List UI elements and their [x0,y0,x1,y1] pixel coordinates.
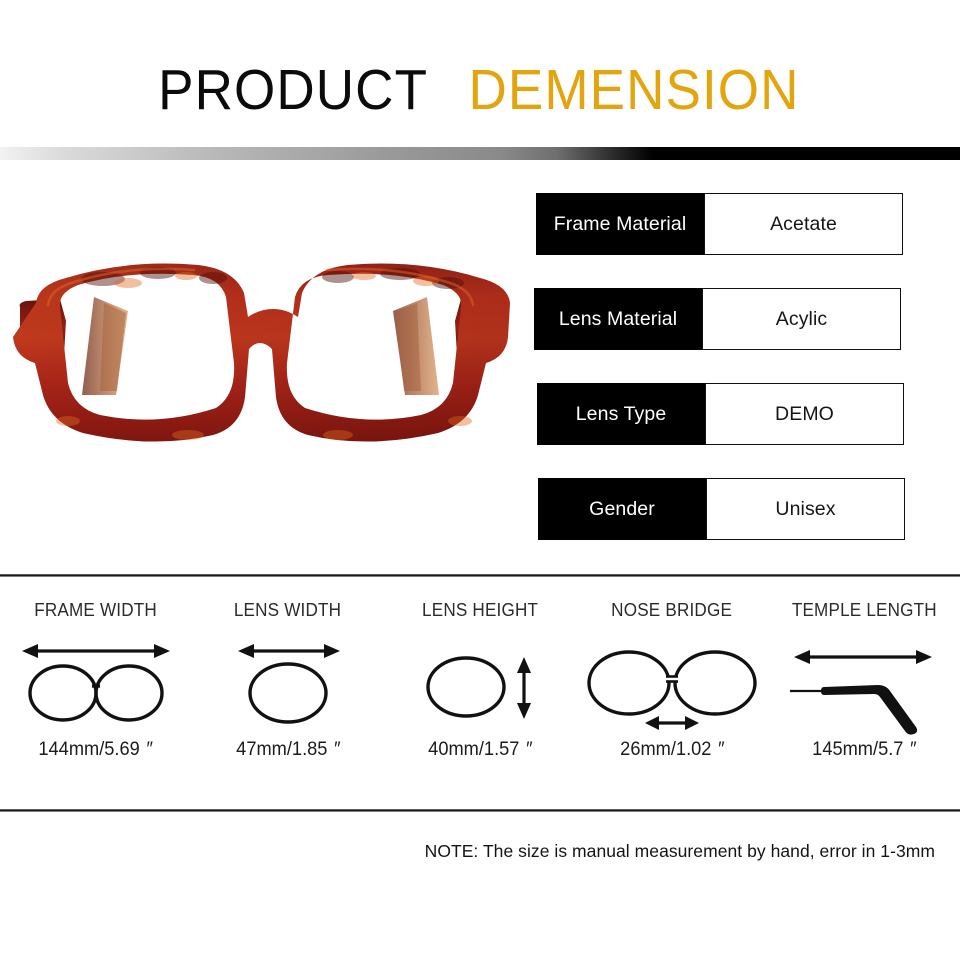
dimension-label-lens-height: LENS HEIGHT [422,600,538,624]
dimension-nose-bridge: NOSE BRIDGE 26mm/1.02″ [576,600,768,790]
section-divider-bottom [0,809,960,812]
dimension-value-frame-width: 144mm/5.69″ [39,739,154,761]
section-divider-top [0,574,960,577]
spec-value-gender: Unisex [706,478,905,540]
dimension-value-temple-length: 145mm/5.7″ [812,739,916,761]
title-word-demension: DEMENSION [468,62,799,119]
page-title: PRODUCT DEMENSION [0,62,960,119]
dimension-frame-width: FRAME WIDTH 144mm/5.69″ [0,600,192,790]
dimension-label-nose-bridge: NOSE BRIDGE [612,600,733,624]
spec-key-lens-material: Lens Material [534,288,702,350]
spec-key-frame-material: Frame Material [536,193,704,255]
dimension-lens-width: LENS WIDTH 47mm/1.85″ [192,600,384,790]
dimension-label-lens-width: LENS WIDTH [234,600,341,624]
spec-value-lens-material: Acylic [702,288,901,350]
dimension-label-temple-length: TEMPLE LENGTH [791,600,936,624]
lens-height-icon [395,632,565,737]
lens-width-icon [203,632,373,737]
dimension-value-lens-width: 47mm/1.85″ [236,739,340,761]
spec-row-lens-type: Lens Type DEMO [537,383,905,445]
temple-length-icon [779,632,949,737]
measurement-note: NOTE: The size is manual measurement by … [425,841,935,862]
dimension-temple-length: TEMPLE LENGTH 145mm/5.7″ [768,600,960,790]
dimension-lens-height: LENS HEIGHT 40mm/1.57″ [384,600,576,790]
dimensions-strip: FRAME WIDTH 144mm/5.69″ LENS WIDTH [0,600,960,790]
dimension-label-frame-width: FRAME WIDTH [35,600,158,624]
spec-key-gender: Gender [538,478,706,540]
nose-bridge-icon [587,632,757,737]
title-word-product: PRODUCT [159,62,429,119]
spec-value-lens-type: DEMO [705,383,904,445]
title-gradient-divider [0,147,960,160]
spec-row-frame-material: Frame Material Acetate [536,193,904,255]
spec-row-gender: Gender Unisex [538,478,906,540]
frame-width-icon [11,632,181,737]
spec-row-lens-material: Lens Material Acylic [534,288,902,350]
dimension-value-nose-bridge: 26mm/1.02″ [620,739,724,761]
product-photo-eyeglasses [8,245,513,475]
dimension-value-lens-height: 40mm/1.57″ [428,739,532,761]
spec-value-frame-material: Acetate [704,193,903,255]
spec-key-lens-type: Lens Type [537,383,705,445]
specification-table: Frame Material Acetate Lens Material Acy… [536,193,904,540]
